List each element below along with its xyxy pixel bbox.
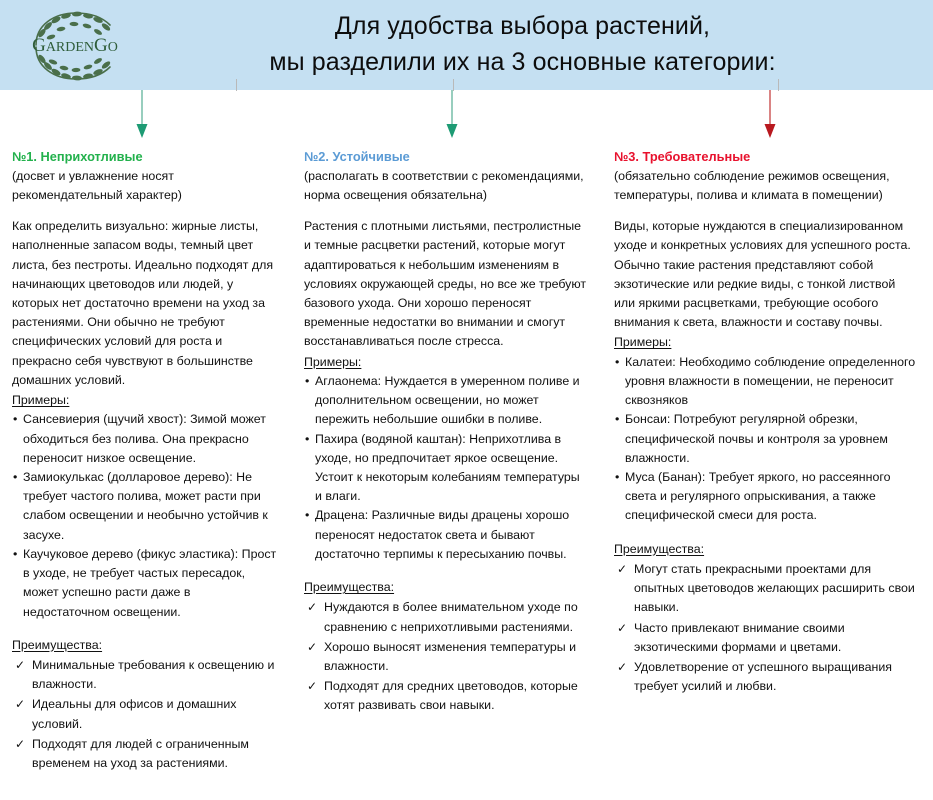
laurel-wreath-icon: GARDENGO	[12, 3, 140, 87]
category-3-advantages-list: Могут стать прекрасными проектами для оп…	[614, 560, 919, 697]
category-1-title: №1. Неприхотливые	[12, 148, 280, 166]
category-2-advantages-list: Нуждаются в более внимательном уходе по …	[304, 598, 588, 715]
list-item: Каучуковое дерево (фикус эластика): Прос…	[12, 545, 280, 622]
category-arrows	[0, 90, 933, 148]
category-column-1: №1. Неприхотливые (досвет и увлажнение н…	[0, 148, 296, 773]
list-item: Подходят для людей с ограниченным времен…	[12, 735, 280, 773]
page-header: GARDENGO Для удобства выбора растений, м…	[0, 0, 933, 90]
category-columns: №1. Неприхотливые (досвет и увлажнение н…	[0, 148, 933, 773]
category-1-examples-list: Сансевиерия (щучий хвост): Зимой может о…	[12, 410, 280, 621]
arrow-down-category-1	[135, 90, 149, 142]
category-3-advantages-label: Преимущества:	[614, 540, 919, 559]
category-2-examples-label: Примеры:	[304, 353, 588, 372]
list-item: Подходят для средних цветоводов, которые…	[304, 677, 588, 715]
list-item: Драцена: Различные виды драцены хорошо п…	[304, 506, 588, 564]
list-item: Пахира (водяной каштан): Неприхотлива в …	[304, 430, 588, 507]
list-item: Замиокулькас (долларовое дерево): Не тре…	[12, 468, 280, 545]
category-3-examples-list: Калатеи: Необходимо соблюдение определен…	[614, 353, 919, 526]
category-2-description: Растения с плотными листьями, пестролист…	[304, 217, 588, 352]
list-item: Удовлетворение от успешного выращивания …	[614, 658, 919, 696]
page-title: Для удобства выбора растений, мы раздели…	[152, 10, 933, 80]
list-item: Сансевиерия (щучий хвост): Зимой может о…	[12, 410, 280, 468]
category-1-advantages-label: Преимущества:	[12, 636, 280, 655]
list-item: Минимальные требования к освещению и вла…	[12, 656, 280, 694]
category-3-examples-label: Примеры:	[614, 333, 919, 352]
category-column-2: №2. Устойчивые (располагать в соответств…	[296, 148, 604, 716]
list-item: Бонсаи: Потребуют регулярной обрезки, сп…	[614, 410, 919, 468]
list-item: Могут стать прекрасными проектами для оп…	[614, 560, 919, 618]
list-item: Нуждаются в более внимательном уходе по …	[304, 598, 588, 636]
category-1-examples-label: Примеры:	[12, 391, 280, 410]
category-3-subtitle: (обязательно соблюдение режимов освещени…	[614, 167, 919, 204]
category-column-3: №3. Требовательные (обязательно соблюден…	[604, 148, 933, 696]
category-3-description: Виды, которые нуждаются в специализирова…	[614, 217, 919, 332]
category-1-subtitle: (досвет и увлажнение носят рекомендатель…	[12, 167, 280, 204]
category-1-advantages-list: Минимальные требования к освещению и вла…	[12, 656, 280, 773]
list-item: Муса (Банан): Требует яркого, но рассеян…	[614, 468, 919, 526]
list-item: Идеальны для офисов и домашних условий.	[12, 695, 280, 733]
brand-logo-text: GARDENGO	[32, 35, 118, 56]
list-item: Часто привлекают внимание своими экзотич…	[614, 619, 919, 657]
brand-logo: GARDENGO	[0, 0, 152, 90]
list-item: Калатеи: Необходимо соблюдение определен…	[614, 353, 919, 411]
list-item: Аглаонема: Нуждается в умеренном поливе …	[304, 372, 588, 430]
category-2-subtitle: (располагать в соответствии с рекомендац…	[304, 167, 588, 204]
category-1-description: Как определить визуально: жирные листы, …	[12, 217, 280, 390]
category-3-title: №3. Требовательные	[614, 148, 919, 166]
page-title-line-1: Для удобства выбора растений,	[152, 10, 893, 44]
list-item: Хорошо выносят изменения температуры и в…	[304, 638, 588, 676]
arrow-down-category-3	[763, 90, 777, 142]
category-2-advantages-label: Преимущества:	[304, 578, 588, 597]
category-2-examples-list: Аглаонема: Нуждается в умеренном поливе …	[304, 372, 588, 564]
page-title-line-2: мы разделили их на 3 основные категории:	[152, 46, 893, 80]
arrow-down-category-2	[445, 90, 459, 142]
category-2-title: №2. Устойчивые	[304, 148, 588, 166]
